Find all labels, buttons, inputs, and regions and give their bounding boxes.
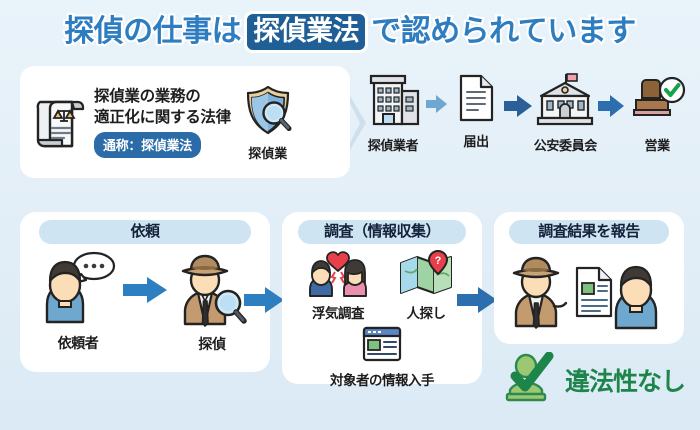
survey-caption-missing: 人探し <box>407 302 446 322</box>
infographic-root: 探偵の仕事は 探偵業法 で認められています <box>0 0 700 430</box>
survey-caption-info: 対象者の情報入手 <box>330 369 434 389</box>
flow-step-notification: 届出 <box>448 72 505 150</box>
arrow-survey-to-report <box>457 286 497 319</box>
title-highlight-wrap: 探偵業法 <box>244 11 368 53</box>
panel-survey: 調査（情報収集） 浮気調査 <box>282 212 482 384</box>
figure-caption-client: 依頼者 <box>58 333 99 353</box>
panel-request-header: 依頼 <box>39 220 251 244</box>
law-title-line-2: 適正化に関する法律 <box>94 108 231 127</box>
panel-survey-header: 調査（情報収集） <box>298 220 466 244</box>
title-part-2: で認められています <box>371 10 636 54</box>
panel-request-body: 依頼者 <box>20 248 270 354</box>
registration-flow: 探偵業者 届出 <box>360 72 690 172</box>
government-building-icon <box>534 72 596 133</box>
law-text-block: 探偵業の業務の 適正化に関する法律 通称：探偵業法 <box>94 87 231 158</box>
title-highlight: 探偵業法 <box>244 11 368 53</box>
law-alias-badge: 通称：探偵業法 <box>94 132 201 158</box>
svg-text:?: ? <box>435 255 442 267</box>
flow-caption-commission: 公安委員会 <box>534 135 597 154</box>
flow-caption-office: 探偵業者 <box>368 135 418 154</box>
legality-result: 違法性なし <box>505 352 685 407</box>
panel-report-body <box>494 248 684 335</box>
webpage-info-icon <box>358 324 406 369</box>
panel-request: 依頼 <box>20 212 270 372</box>
client-person-icon <box>608 256 674 335</box>
flow-step-office: 探偵業者 <box>360 72 426 154</box>
figure-client: 依頼者 <box>37 249 119 353</box>
flow-step-commission: 公安委員会 <box>532 72 598 154</box>
detective-report-icon <box>504 248 582 335</box>
arrow-request-to-survey <box>244 286 284 319</box>
law-title-line-1: 探偵業の業務の <box>94 87 231 106</box>
detective-icon <box>171 248 253 333</box>
request-arrow-icon <box>123 276 167 309</box>
law-card: 探偵業の業務の 適正化に関する法律 通称：探偵業法 <box>20 66 350 178</box>
client-person-icon <box>37 249 119 332</box>
couple-heart-icon <box>307 249 369 302</box>
shield-magnifier-icon <box>241 83 295 142</box>
survey-item-missing: ? 人探し <box>387 249 465 322</box>
law-scroll-icon <box>30 88 88 157</box>
flow-caption-operation: 営業 <box>644 135 669 154</box>
panel-report-header: 調査結果を報告 <box>509 220 669 244</box>
flow-caption-notification: 届出 <box>464 131 489 150</box>
page-title: 探偵の仕事は 探偵業法 で認められています <box>0 8 700 56</box>
office-building-icon <box>364 72 422 133</box>
legality-label: 違法性なし <box>565 362 685 398</box>
survey-caption-affair: 浮気調査 <box>312 302 364 322</box>
title-part-1: 探偵の仕事は <box>64 10 241 54</box>
flow-arrow-2 <box>504 94 532 123</box>
flow-arrow-1 <box>426 94 448 119</box>
green-stamp-check-icon <box>505 352 557 407</box>
figure-detective: 探偵 <box>171 248 253 354</box>
document-icon <box>455 72 497 129</box>
panel-report: 調査結果を報告 <box>494 212 684 344</box>
stamp-check-icon <box>628 72 686 133</box>
survey-item-affair: 浮気調査 <box>299 249 377 322</box>
shield-label: 探偵業 <box>248 143 287 162</box>
flow-arrow-3 <box>598 94 624 123</box>
survey-item-info: 対象者の情報入手 <box>282 324 482 389</box>
figure-caption-detective: 探偵 <box>198 334 225 354</box>
map-pin-icon: ? <box>397 249 455 302</box>
flow-step-operation: 営業 <box>624 72 690 154</box>
shield-block: 探偵業 <box>241 83 295 162</box>
panel-survey-row: 浮気調査 ? 人探し <box>282 249 482 322</box>
